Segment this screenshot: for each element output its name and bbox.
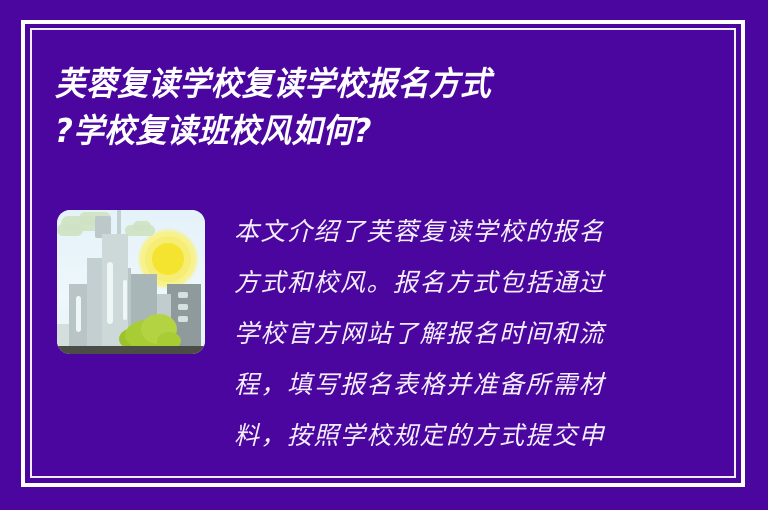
body-line-1: 本文介绍了芙蓉复读学校的报名 <box>234 206 654 257</box>
illustration-panel <box>57 210 205 354</box>
window-strip <box>76 296 81 332</box>
window-dot <box>178 316 188 322</box>
window-dot <box>178 304 188 310</box>
window-dot <box>178 292 188 298</box>
cloud-icon <box>57 224 83 236</box>
body-text: 本文介绍了芙蓉复读学校的报名 方式和校风。报名方式包括通过 学校官方网站了解报名… <box>234 206 654 461</box>
body-line-2: 方式和校风。报名方式包括通过 <box>234 257 654 308</box>
antenna-icon <box>117 210 121 234</box>
title-line-2: ?学校复读班校风如何? <box>55 107 632 154</box>
cloud-icon <box>133 221 151 231</box>
city-skyline-illustration <box>57 204 205 354</box>
window-strip <box>123 280 127 320</box>
ground-line <box>57 346 205 354</box>
body-line-4: 程，填写报名表格并准备所需材 <box>234 359 654 410</box>
sun-icon <box>152 243 184 275</box>
title-line-1: 芙蓉复读学校复读学校报名方式 <box>55 60 632 107</box>
body-line-5: 料，按照学校规定的方式提交申 <box>234 410 654 461</box>
poster-card: 芙蓉复读学校复读学校报名方式 ?学校复读班校风如何? <box>0 0 768 510</box>
body-line-3: 学校官方网站了解报名时间和流 <box>234 308 654 359</box>
page-title: 芙蓉复读学校复读学校报名方式 ?学校复读班校风如何? <box>55 60 675 154</box>
window-strip <box>107 262 113 324</box>
